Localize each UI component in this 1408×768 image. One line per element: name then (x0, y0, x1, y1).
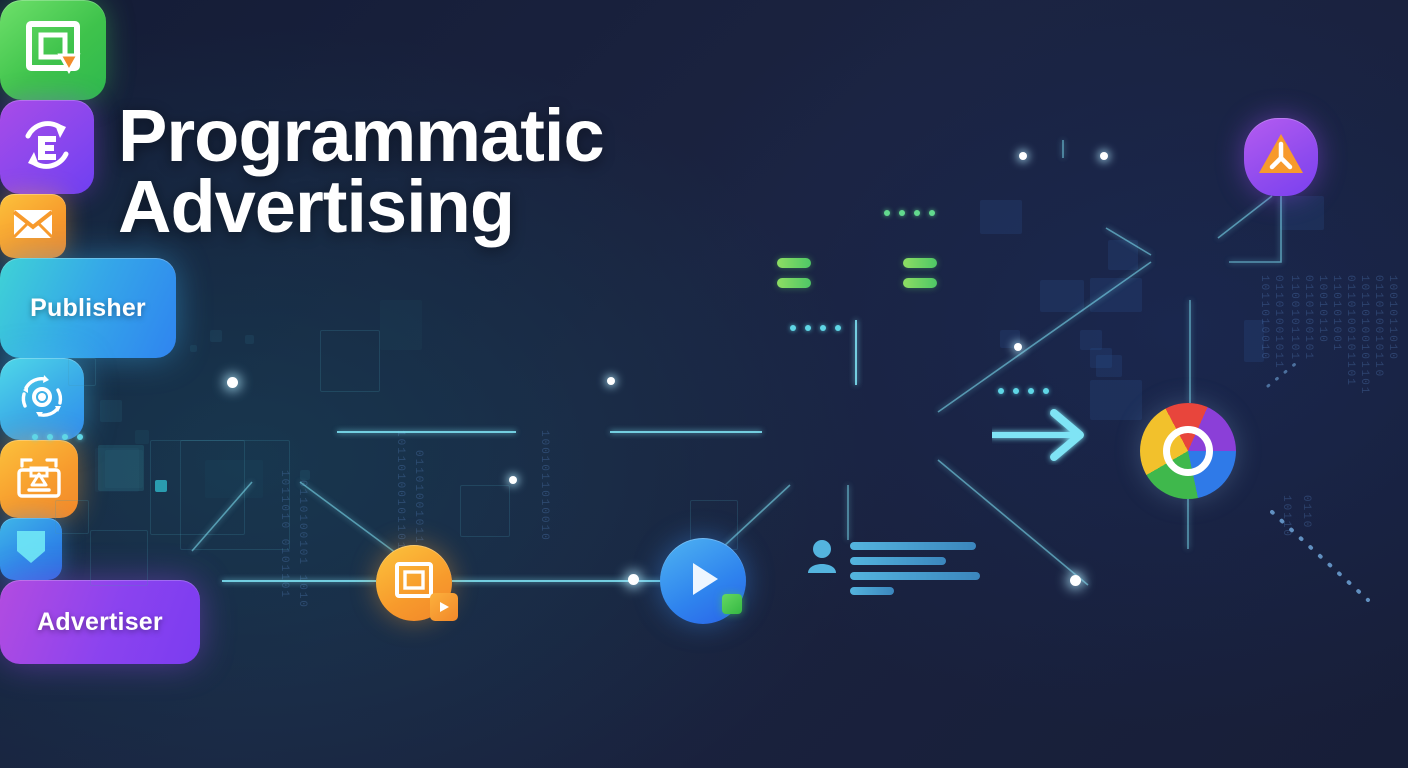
line-node-dot (1019, 152, 1027, 160)
line-node-dot (1014, 343, 1022, 351)
mail-deco-bar (903, 278, 937, 288)
video-ad-node[interactable] (376, 545, 452, 621)
user-profile-icon (808, 539, 836, 575)
mail-deco-bar (777, 258, 811, 268)
mail-deco-bar (777, 278, 811, 288)
profile-text-lines (850, 539, 980, 595)
arrow-right-icon (992, 405, 1090, 470)
profile-line (850, 587, 894, 595)
color-wheel-icon[interactable] (1140, 403, 1236, 499)
title-line-2: Advertising (118, 171, 604, 242)
line-node-dot (607, 377, 615, 385)
profile-line (850, 542, 976, 550)
propeller-triangle-icon (1256, 131, 1306, 184)
play-icon (680, 556, 726, 607)
line-node-dot (1100, 152, 1108, 160)
line-node-dot (628, 574, 639, 585)
line-node-dot (227, 377, 238, 388)
play-badge-icon (430, 593, 458, 621)
video-player-node[interactable] (660, 538, 746, 624)
status-square-badge (722, 594, 742, 614)
line-node-dot (1070, 575, 1081, 586)
profile-line (850, 557, 946, 565)
page-title: Programmatic Advertising (118, 100, 604, 242)
diagram-canvas: 1011010 0101101 0110100101 1010 10110100… (0, 0, 1408, 768)
audience-profile-card (808, 539, 980, 595)
dotted-diagonal (1272, 512, 1368, 600)
title-line-1: Programmatic (118, 100, 604, 171)
profile-line (850, 572, 980, 580)
mail-deco-bar (903, 258, 937, 268)
line-node-dot (509, 476, 517, 484)
brand-blob-node[interactable] (1244, 118, 1318, 196)
